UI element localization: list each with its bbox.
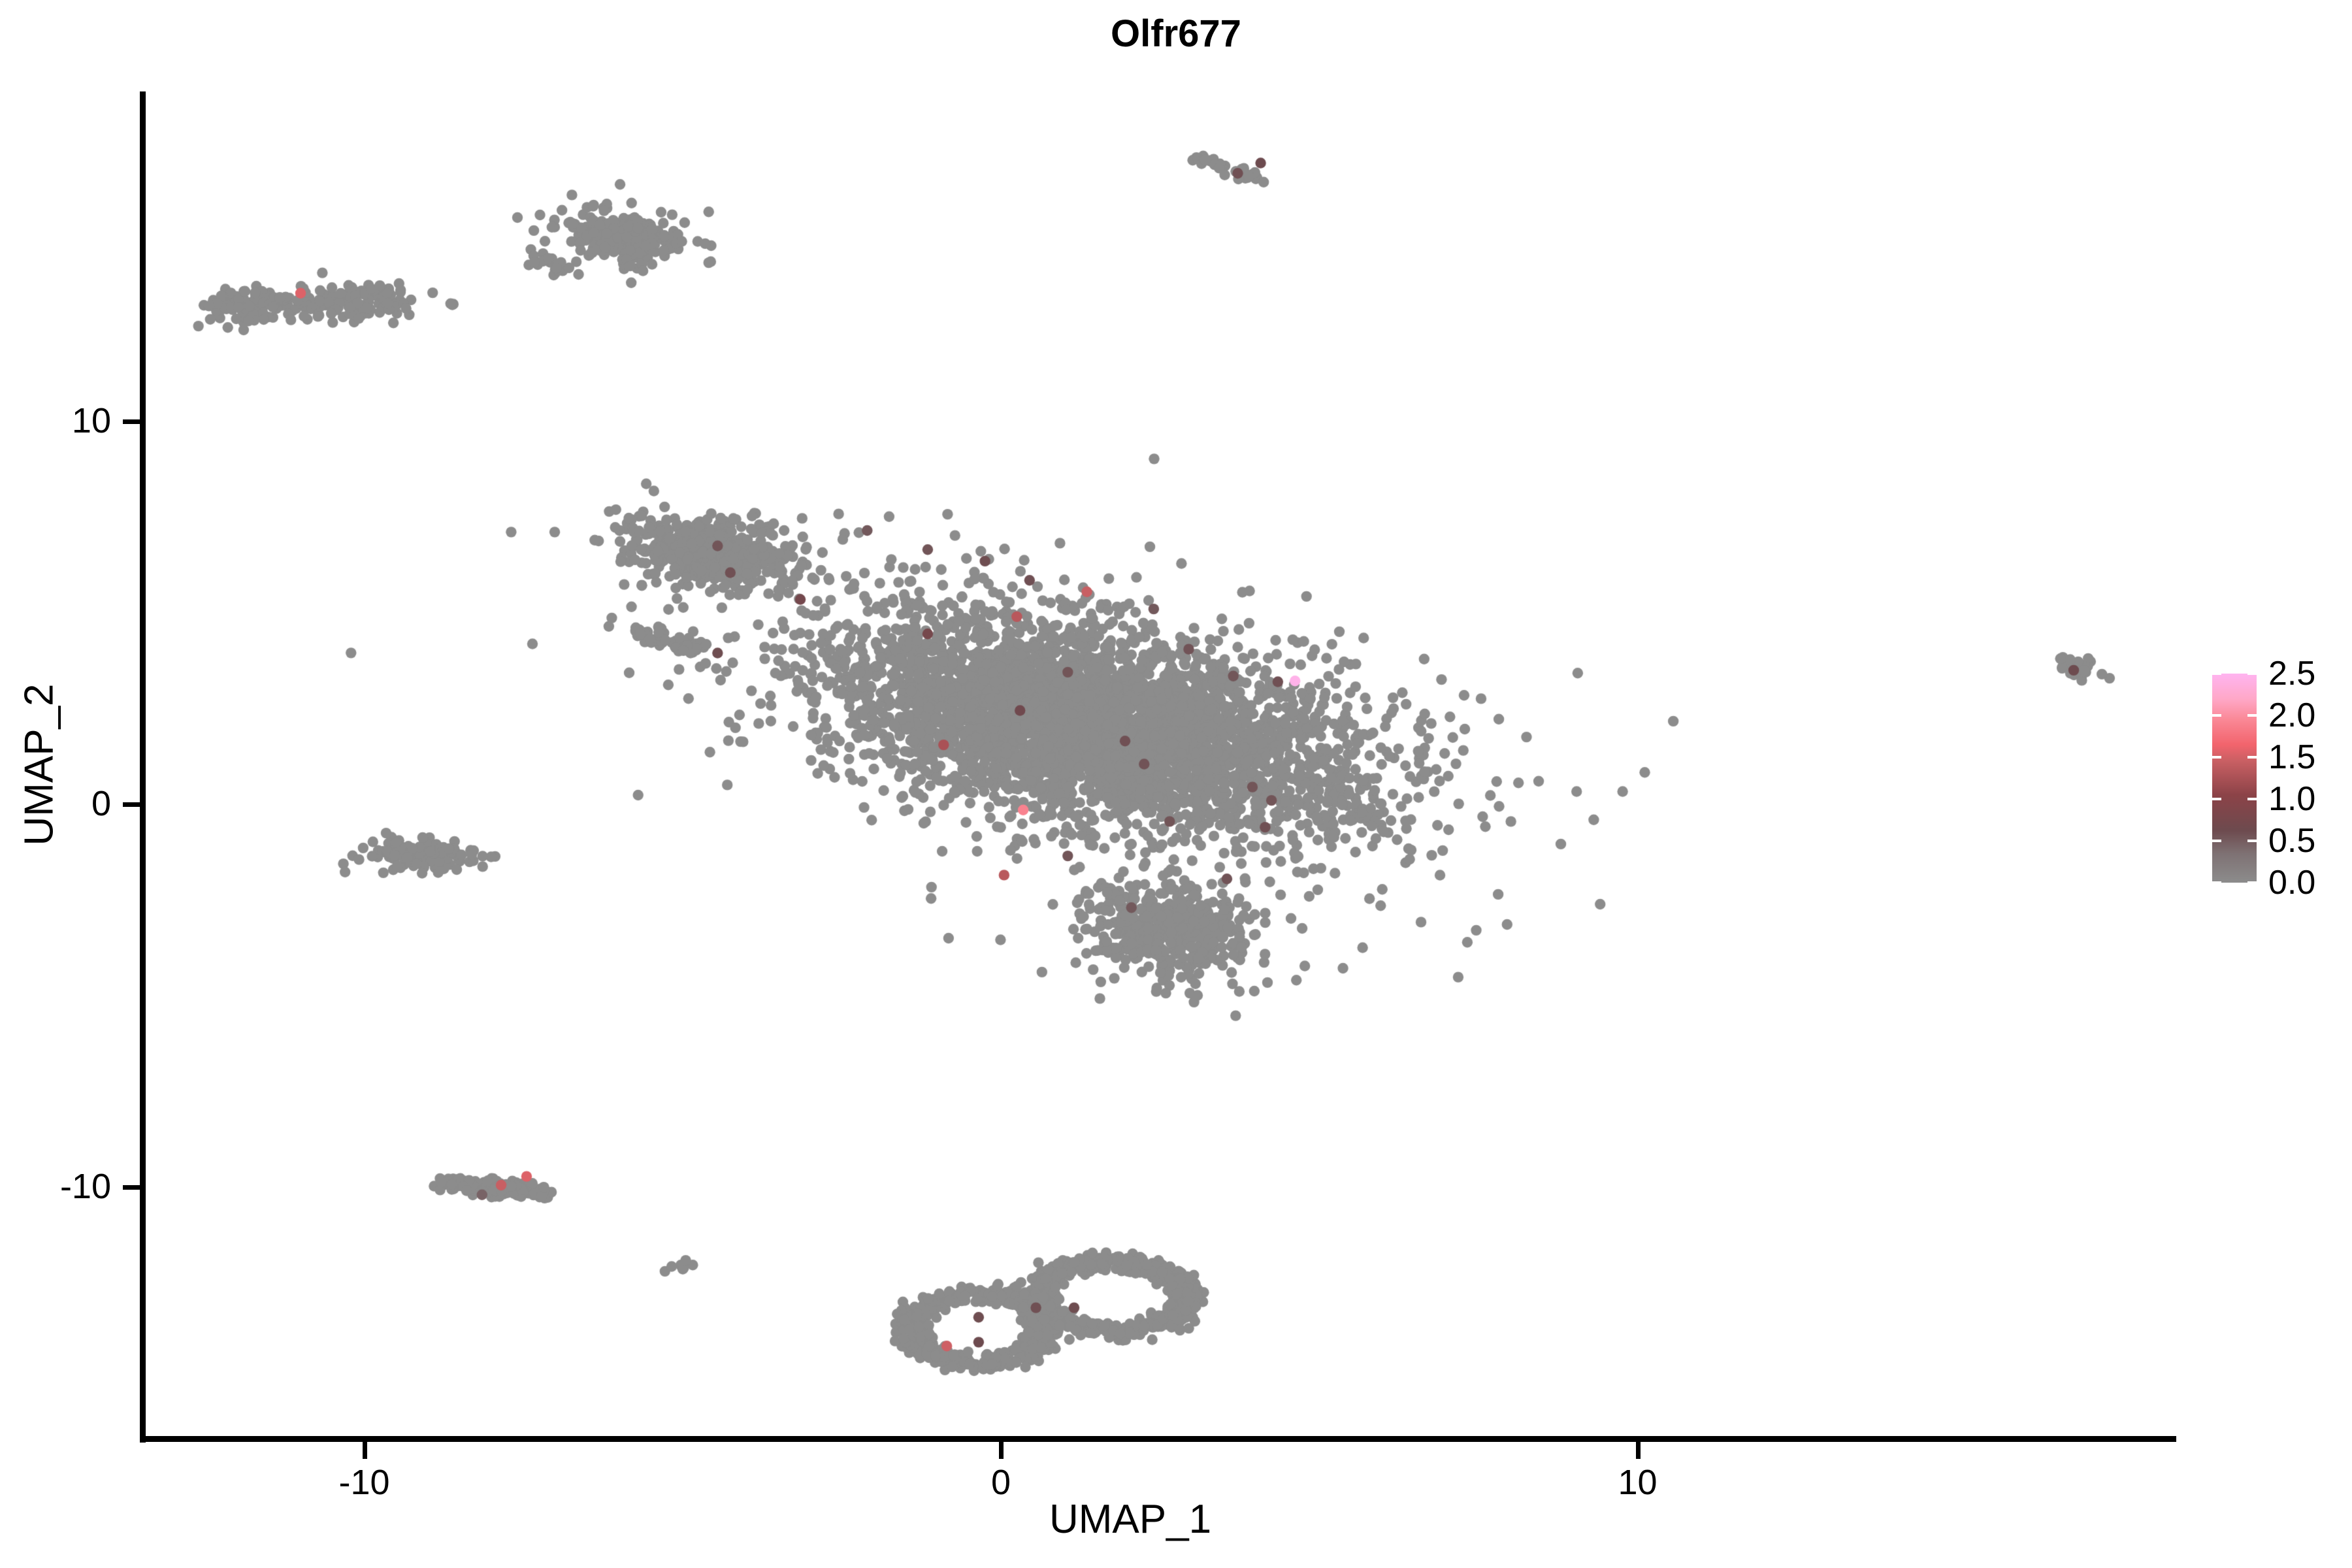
legend-tick-mark bbox=[2247, 756, 2257, 759]
y-tick-mark bbox=[123, 1185, 140, 1190]
legend-tick-label: 0.5 bbox=[2268, 824, 2315, 858]
legend-tick-mark bbox=[2247, 714, 2257, 717]
scatter-points-canvas bbox=[144, 91, 2176, 1439]
x-tick-mark bbox=[1636, 1442, 1641, 1459]
y-tick-label: -10 bbox=[0, 1166, 111, 1207]
x-axis-title: UMAP_1 bbox=[0, 1496, 2261, 1543]
legend-colorbar bbox=[2212, 674, 2257, 883]
color-legend: 2.52.01.51.00.50.0 bbox=[2212, 674, 2343, 889]
legend-tick-label: 0.0 bbox=[2268, 866, 2315, 900]
plot-panel bbox=[144, 91, 2176, 1439]
page-title: Olfr677 bbox=[0, 12, 2352, 56]
x-axis-line bbox=[140, 1436, 2176, 1442]
legend-tick-mark bbox=[2212, 798, 2221, 800]
legend-tick-label: 1.5 bbox=[2268, 740, 2315, 774]
legend-tick-mark bbox=[2247, 840, 2257, 842]
y-tick-mark bbox=[123, 802, 140, 807]
legend-tick-mark bbox=[2212, 840, 2221, 842]
legend-tick-label: 1.0 bbox=[2268, 782, 2315, 816]
umap-feature-plot: Olfr677 100-10 -10010 UMAP_1 UMAP_2 2.52… bbox=[0, 0, 2352, 1568]
legend-tick-mark bbox=[2247, 881, 2257, 884]
legend-tick-label: 2.5 bbox=[2268, 657, 2315, 691]
x-tick-mark bbox=[363, 1442, 367, 1459]
legend-tick-mark bbox=[2212, 756, 2221, 759]
y-axis-title: UMAP_2 bbox=[16, 373, 63, 1157]
legend-tick-label: 2.0 bbox=[2268, 698, 2315, 732]
legend-tick-mark bbox=[2212, 714, 2221, 717]
legend-tick-mark bbox=[2247, 798, 2257, 800]
y-axis-line bbox=[140, 91, 146, 1443]
y-tick-mark bbox=[123, 419, 140, 424]
x-tick-mark bbox=[999, 1442, 1004, 1459]
legend-tick-mark bbox=[2212, 881, 2221, 884]
legend-tick-mark bbox=[2247, 672, 2257, 675]
legend-tick-mark bbox=[2212, 672, 2221, 675]
